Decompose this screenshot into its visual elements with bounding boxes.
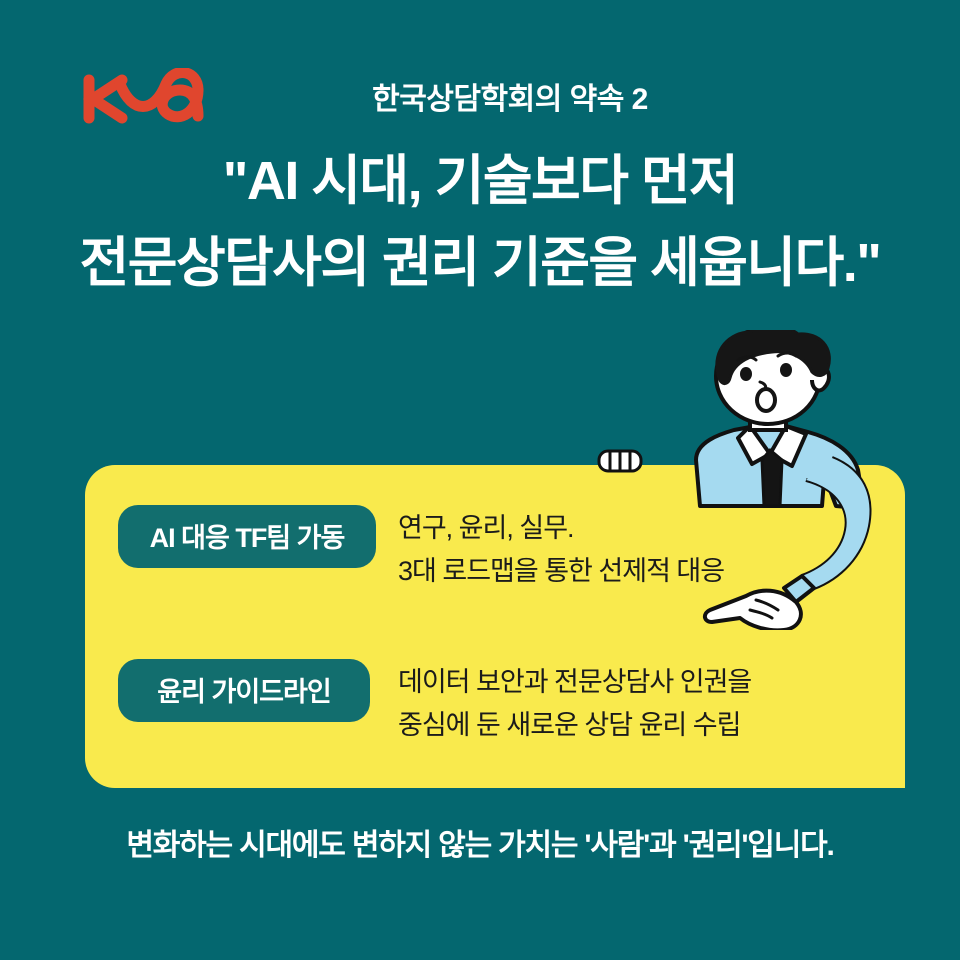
promo-card: 한국상담학회의 약속 2 "AI 시대, 기술보다 먼저 전문상담사의 권리 기…: [0, 0, 960, 960]
headline-line-1: "AI 시대, 기술보다 먼저: [0, 140, 960, 222]
badge-ethics-guideline: 윤리 가이드라인: [118, 659, 370, 722]
list-item-description-line-2: 3대 로드맵을 통한 선제적 대응: [398, 550, 724, 593]
list-item-description-line-2: 중심에 둔 새로운 상담 윤리 수립: [398, 704, 751, 747]
headline-line-2: 전문상담사의 권리 기준을 세웁니다.": [0, 222, 960, 304]
badge-ai-taskforce: AI 대응 TF팀 가동: [118, 505, 376, 568]
eyebrow-title: 한국상담학회의 약속 2: [300, 74, 720, 118]
list-item: 윤리 가이드라인 데이터 보안과 전문상담사 인권을 중심에 둔 새로운 상담 …: [118, 659, 878, 747]
kca-logo: [80, 68, 210, 130]
list-item: AI 대응 TF팀 가동 연구, 윤리, 실무. 3대 로드맵을 통한 선제적 …: [118, 505, 878, 593]
list-item-description: 데이터 보안과 전문상담사 인권을 중심에 둔 새로운 상담 윤리 수립: [398, 659, 751, 747]
list-item-description-line-1: 데이터 보안과 전문상담사 인권을: [398, 661, 751, 704]
page-title: "AI 시대, 기술보다 먼저 전문상담사의 권리 기준을 세웁니다.": [0, 140, 960, 304]
list-item-description: 연구, 윤리, 실무. 3대 로드맵을 통한 선제적 대응: [398, 505, 724, 593]
list-item-description-line-1: 연구, 윤리, 실무.: [398, 507, 724, 550]
commitment-list: AI 대응 TF팀 가동 연구, 윤리, 실무. 3대 로드맵을 통한 선제적 …: [118, 505, 878, 783]
footer-message: 변화하는 시대에도 변하지 않는 가치는 '사람'과 '권리'입니다.: [0, 820, 960, 864]
